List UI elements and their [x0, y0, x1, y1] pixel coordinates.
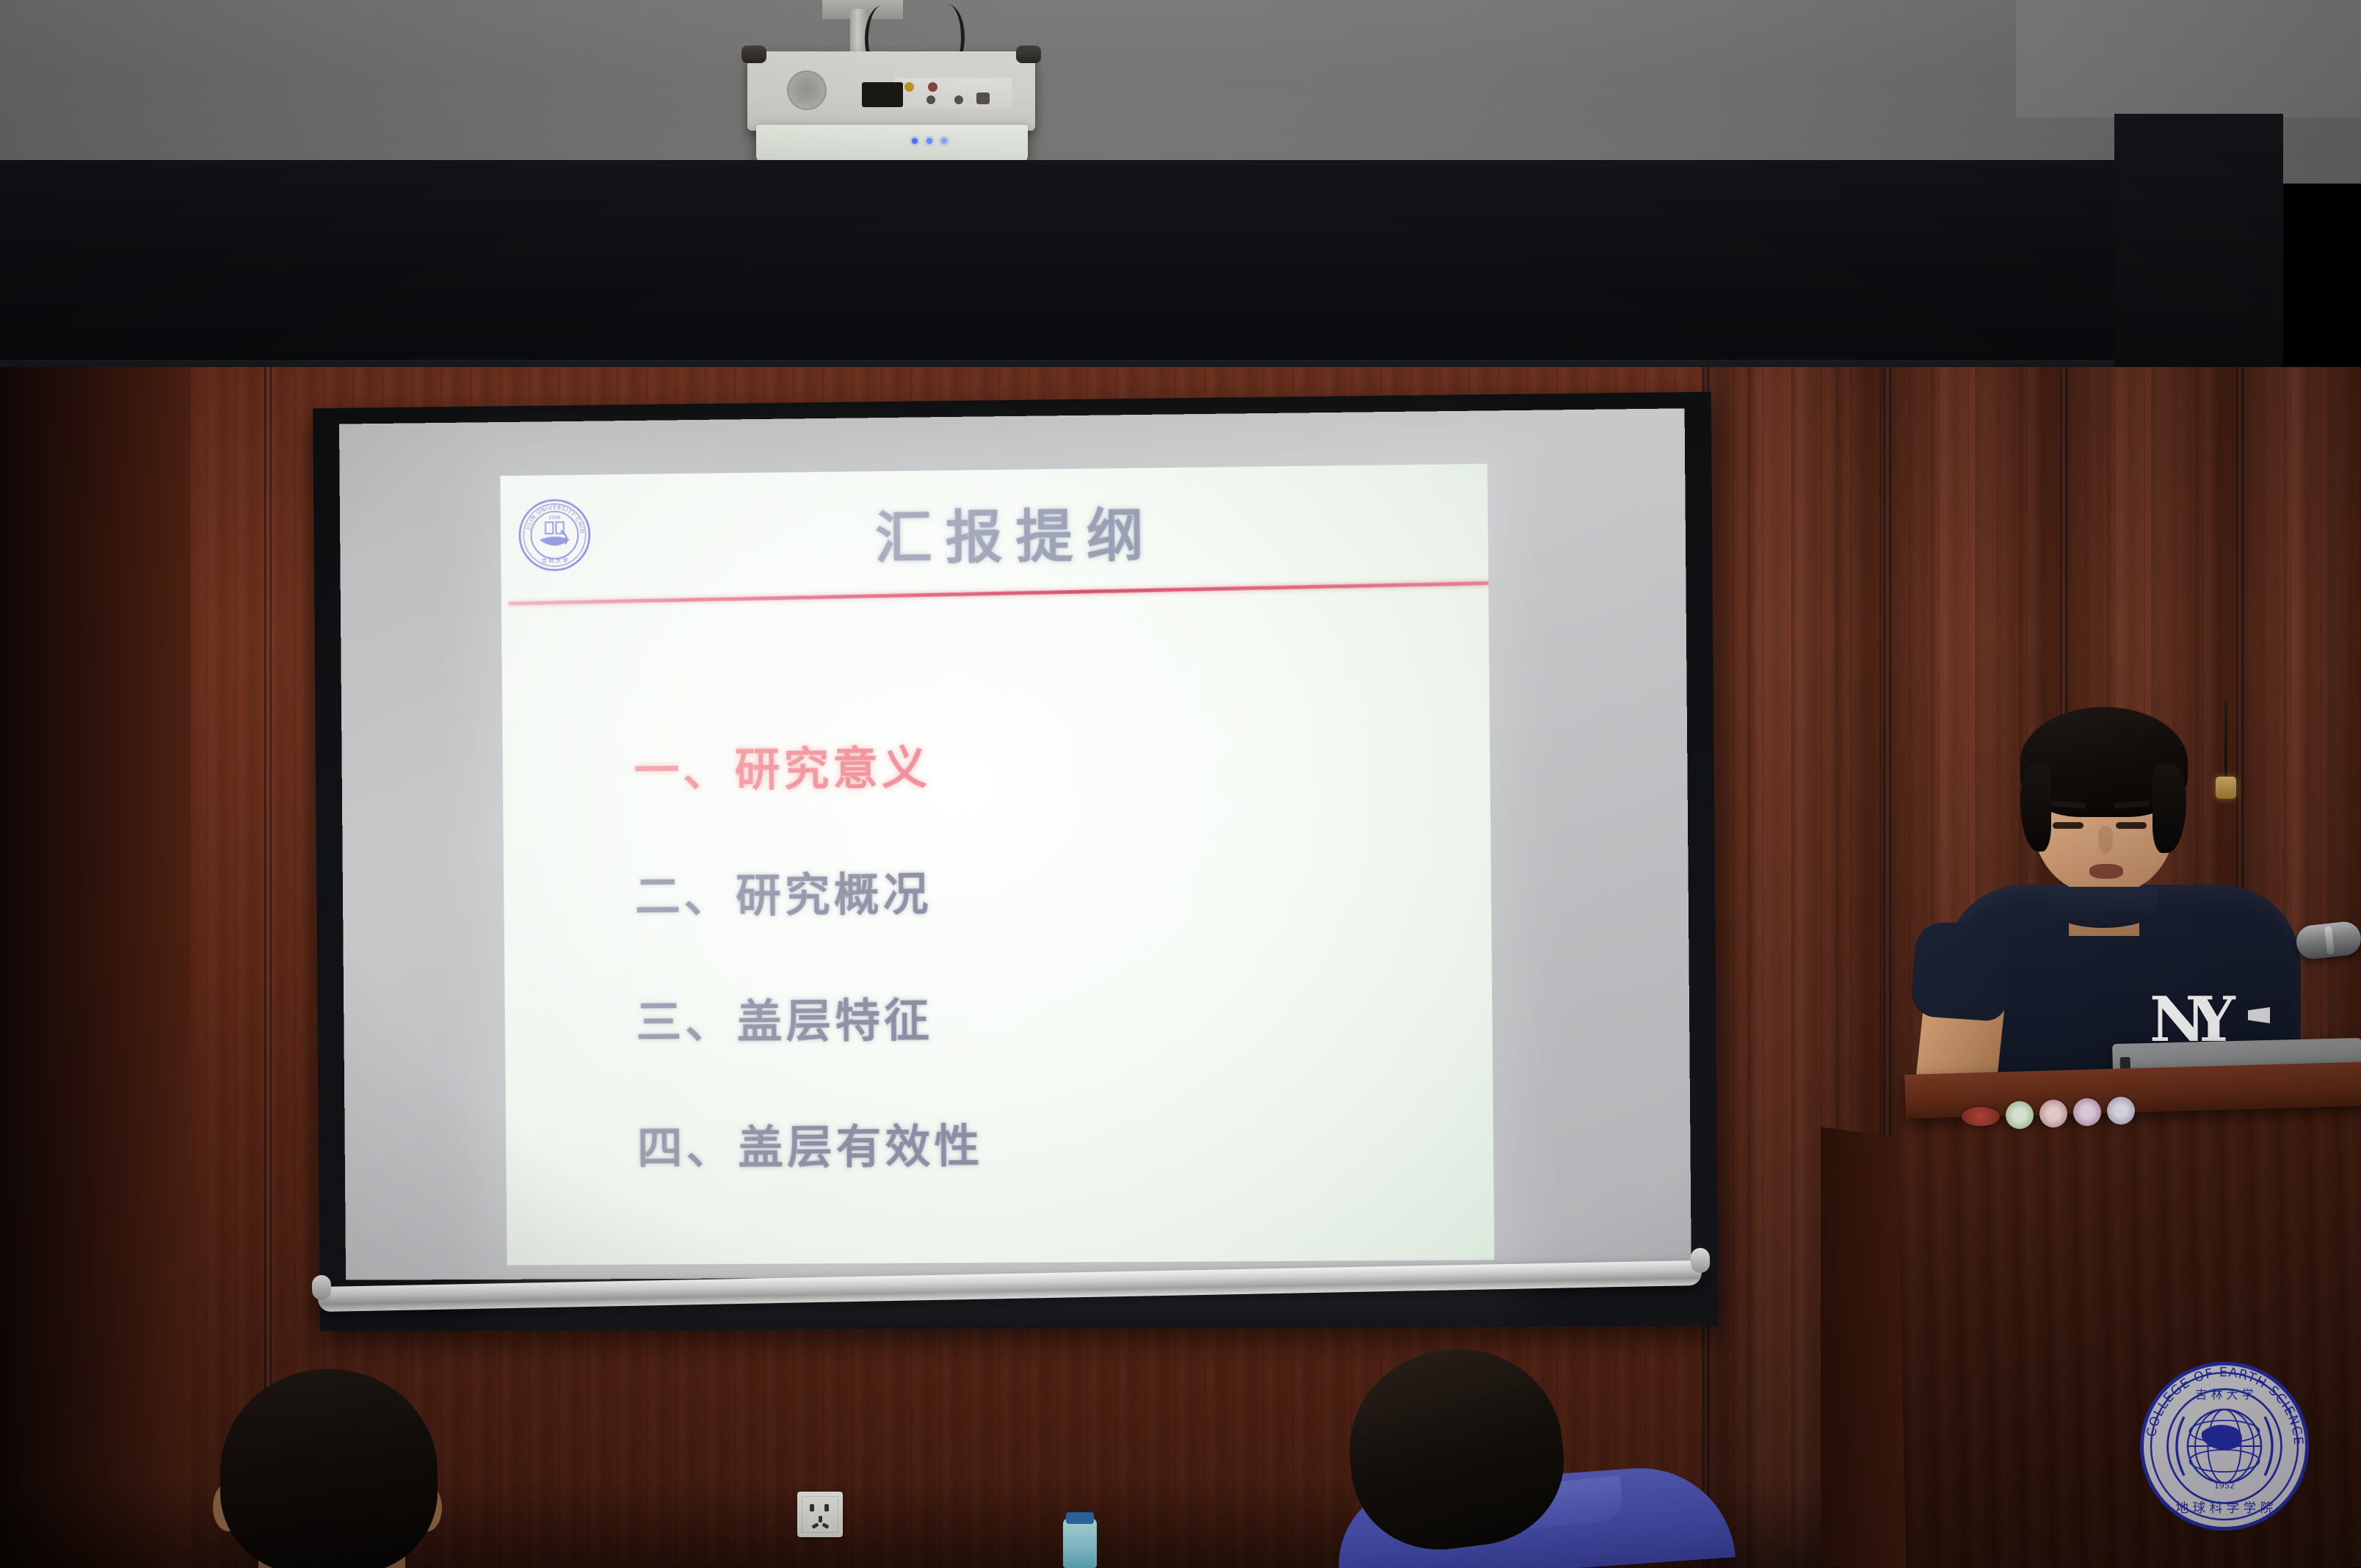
lan-port-icon — [976, 92, 990, 104]
presenter-collar — [2048, 887, 2158, 928]
outline-item-2: 二、研究概况 — [635, 852, 1462, 926]
audio-port-icon — [928, 82, 937, 92]
lamp-led-icon — [926, 138, 932, 144]
svg-text:吉 林 大 学: 吉 林 大 学 — [2195, 1387, 2253, 1401]
outlet-slot-right — [824, 1504, 829, 1511]
projector-foot-left — [741, 46, 766, 63]
ceiling-right-section — [2016, 0, 2361, 117]
projected-slide: JILIN UNIVERSITY·CHINA 1946 吉 林 大 学 汇报提纲… — [500, 464, 1494, 1266]
hanging-lamp-socket — [2216, 777, 2236, 799]
outline-item-1-number: 一、 — [634, 744, 732, 798]
outline-item-3: 三、盖层特征 — [636, 979, 1463, 1051]
audience1-head — [220, 1369, 438, 1568]
projector-lower-shell — [756, 125, 1028, 163]
water-bottle-cap — [1066, 1512, 1094, 1524]
college-of-earth-sciences-seal: COLLEGE OF EARTH SCIENCES 吉 林 大 学 1952 地… — [2133, 1354, 2316, 1538]
projector-foot-right — [1016, 46, 1041, 63]
podium-sticker-1 — [1962, 1107, 2000, 1126]
wall-power-outlet[interactable] — [797, 1492, 843, 1537]
outline-item-4: 四、盖层有效性 — [637, 1106, 1465, 1177]
temp-led-icon — [941, 138, 947, 144]
presenter-mouth — [2089, 864, 2123, 879]
projection-screen: JILIN UNIVERSITY·CHINA 1946 吉 林 大 学 汇报提纲… — [312, 400, 1711, 1329]
outline-item-1: 一、研究意义 — [634, 726, 1461, 800]
screen-bar-cap-right — [1691, 1248, 1711, 1273]
outline-item-1-label: 研究意义 — [734, 741, 931, 796]
outline-item-4-number: 四、 — [637, 1121, 736, 1175]
presenter-eye-left — [2053, 822, 2083, 829]
wall-left-shadow — [0, 367, 191, 1568]
lecture-hall-scene: JILIN UNIVERSITY·CHINA 1946 吉 林 大 学 汇报提纲… — [0, 0, 2361, 1568]
outline-item-3-label: 盖层特征 — [736, 994, 933, 1049]
podium-sticker-5 — [2107, 1097, 2135, 1125]
presenter-nose — [2098, 826, 2113, 854]
water-bottle — [1063, 1518, 1097, 1568]
video-port-icon — [904, 82, 914, 92]
ceiling-surface — [0, 0, 2361, 184]
projector-port-panel — [894, 78, 1012, 109]
podium-sticker-4 — [2073, 1098, 2101, 1126]
lamp-cord — [2224, 701, 2227, 783]
power-port-icon — [954, 95, 963, 104]
slide-outline-list: 一、研究意义 二、研究概况 三、盖层特征 四、盖层有效性 — [634, 726, 1465, 1238]
outline-item-2-label: 研究概况 — [736, 868, 932, 923]
svg-text:地 球 科 学 学 院: 地 球 科 学 学 院 — [2176, 1501, 2274, 1516]
presenter-eye-right — [2116, 822, 2147, 829]
outline-item-2-number: 二、 — [635, 869, 733, 923]
valance-right-return — [2114, 114, 2283, 407]
slide-title: 汇报提纲 — [501, 486, 1489, 580]
aux-port-icon — [926, 95, 935, 104]
speaker-grille-icon — [787, 70, 827, 110]
outline-item-4-label: 盖层有效性 — [738, 1119, 984, 1175]
outlet-inner-frame — [802, 1496, 838, 1533]
projector-vga-connector — [862, 82, 903, 107]
power-led-icon — [912, 138, 918, 144]
podium-sticker-2 — [2006, 1101, 2034, 1129]
presenter-left-sleeve — [1910, 921, 2012, 1023]
ceiling-valance-beam — [0, 160, 2261, 388]
svg-text:1952: 1952 — [2214, 1481, 2235, 1491]
outlet-slot-left — [810, 1504, 814, 1511]
podium-sticker-3 — [2039, 1100, 2067, 1128]
outlet-slot-ground — [819, 1516, 822, 1522]
slide-title-underline — [509, 581, 1489, 606]
screen-bar-cap-left — [312, 1275, 332, 1300]
outline-item-3-number: 三、 — [636, 995, 734, 1050]
